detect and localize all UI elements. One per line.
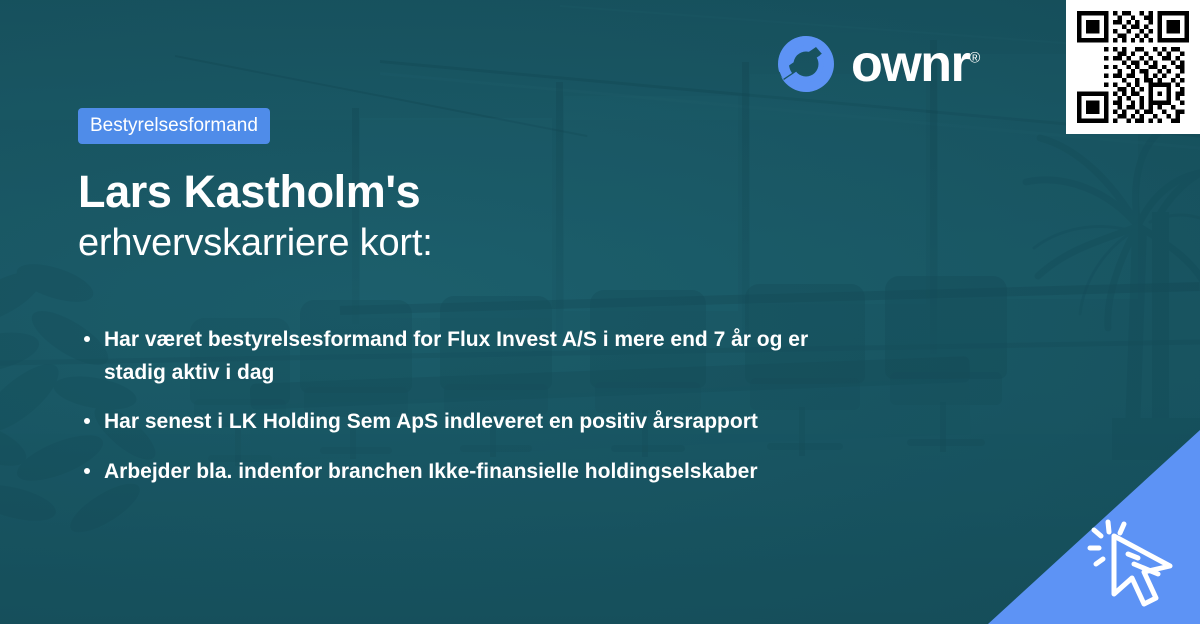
qr-code[interactable] [1077,11,1189,123]
list-item: Har været bestyrelsesformand for Flux In… [78,323,844,389]
social-share-card: ownr® Bestyrelsesformand Lars Kastholm's… [0,0,1200,624]
headline-line-1: Lars Kastholm's [78,166,1050,219]
ownr-logo[interactable]: ownr® [775,33,980,95]
registered-trademark-symbol: ® [969,50,980,67]
page-title: Lars Kastholm's erhvervskarriere kort: [78,166,1050,265]
headline-line-2: erhvervskarriere kort: [78,221,1050,265]
bullet-dot-icon [84,336,90,342]
list-item-text: Har været bestyrelsesformand for Flux In… [104,328,808,384]
click-cursor-icon [1084,510,1188,614]
ownr-wordmark: ownr® [851,38,980,90]
bullet-dot-icon [84,418,90,424]
role-badge: Bestyrelsesformand [78,108,270,144]
list-item-text: Har senest i LK Holding Sem ApS indlever… [104,410,758,433]
list-item: Arbejder bla. indenfor branchen Ikke-fin… [78,455,844,488]
bullet-dot-icon [84,468,90,474]
list-item-text: Arbejder bla. indenfor branchen Ikke-fin… [104,460,758,483]
qr-code-panel[interactable] [1066,0,1200,134]
list-item: Har senest i LK Holding Sem ApS indlever… [78,405,844,438]
card-content: Bestyrelsesformand Lars Kastholm's erhve… [78,108,1050,488]
career-highlights-list: Har været bestyrelsesformand for Flux In… [78,323,1050,488]
ownr-circular-swirl-mark [775,33,837,95]
ownr-wordmark-text: ownr [851,35,969,93]
